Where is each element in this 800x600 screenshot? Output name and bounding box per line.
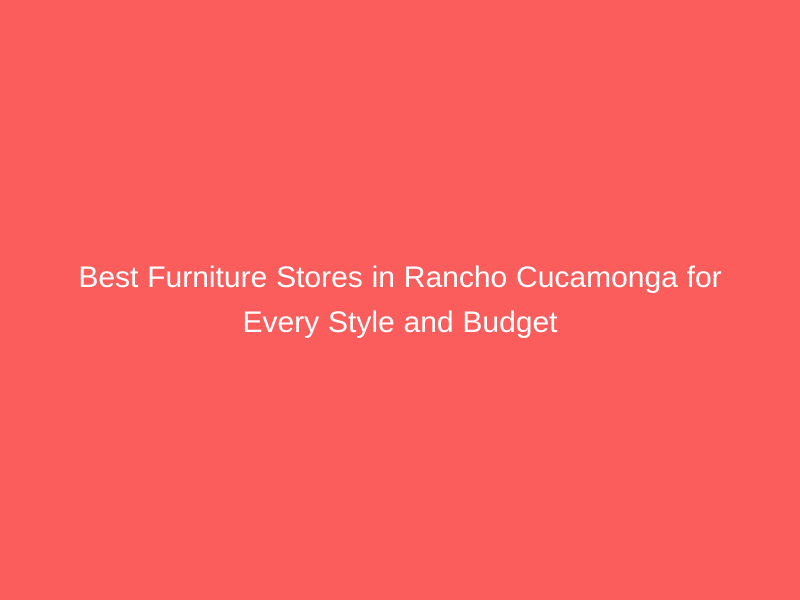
banner-card: Best Furniture Stores in Rancho Cucamong… bbox=[0, 0, 800, 600]
page-title: Best Furniture Stores in Rancho Cucamong… bbox=[40, 255, 760, 345]
